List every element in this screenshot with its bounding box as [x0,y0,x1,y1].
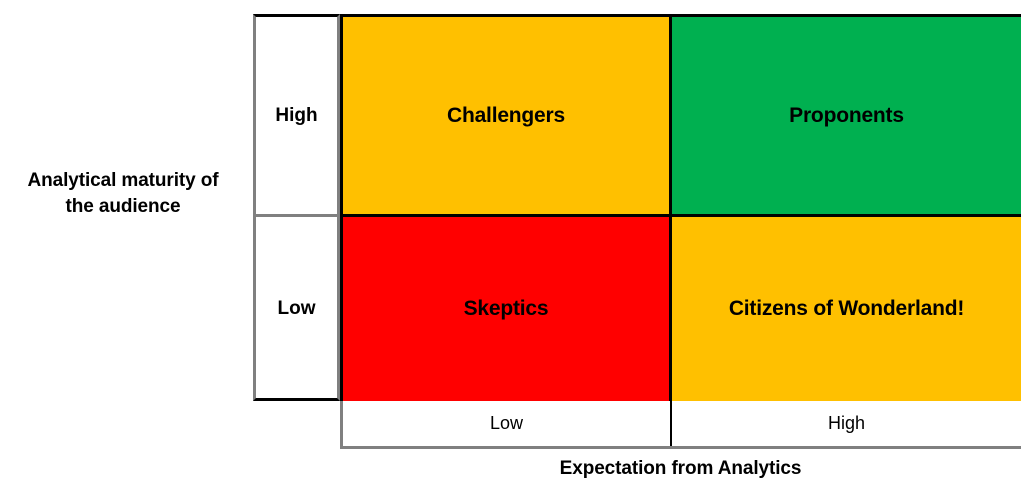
y-axis-tick-column: High Low [253,14,340,401]
y-axis-title-line-1: Analytical maturity of [0,168,246,194]
quadrant-proponents[interactable]: Proponents [672,17,1021,217]
quadrant-citizens-of-wonderland[interactable]: Citizens of Wonderland! [672,217,1021,401]
quadrant-challengers[interactable]: Challengers [343,17,672,217]
y-axis-title: Analytical maturity of the audience [0,168,246,220]
x-axis-tick-low: Low [340,401,672,446]
y-axis-title-line-2: the audience [0,194,246,220]
x-axis-tick-high: High [672,401,1021,446]
y-axis-tick-high: High [256,17,337,217]
x-axis-tick-band: Low High [340,401,1021,449]
quadrant-skeptics[interactable]: Skeptics [343,217,672,401]
x-axis-title: Expectation from Analytics [340,458,1021,480]
y-axis-tick-low: Low [256,217,337,401]
matrix-diagram: Analytical maturity of the audience High… [0,0,1021,497]
quadrant-grid: Challengers Proponents Skeptics Citizens… [340,14,1021,401]
